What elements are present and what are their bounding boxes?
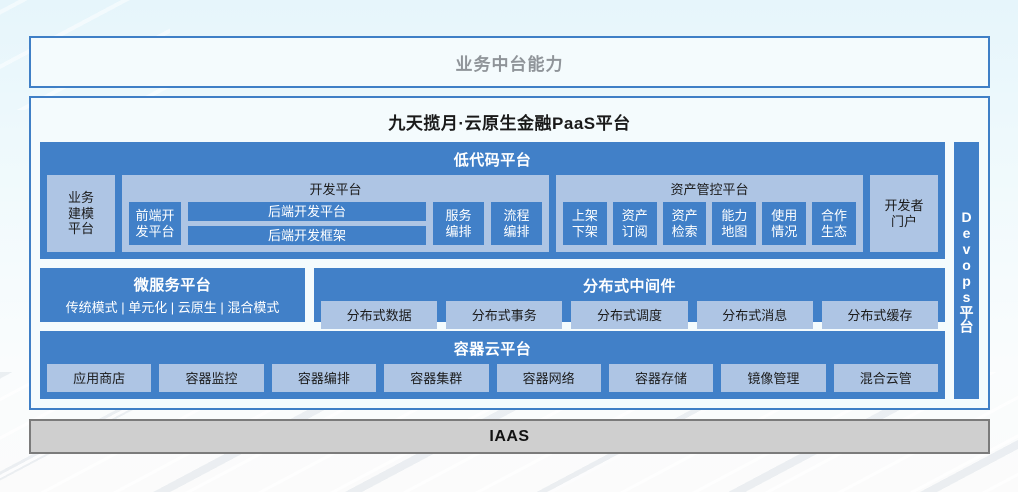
business-modeling-line-3: 平台 [68,221,94,237]
container-item-cluster[interactable]: 容器集群 [384,364,488,392]
process-orchestration-line-1: 流程 [503,208,529,224]
container-cloud-items: 应用商店 容器监控 容器编排 容器集群 容器网络 容器存储 镜像管理 混合云管 [47,364,938,392]
service-orchestration-line-2: 编排 [445,224,471,240]
container-item-storage[interactable]: 容器存储 [609,364,713,392]
asset-item-search-line-1: 资产 [672,208,698,224]
asset-item-capability-map-line-2: 地图 [721,224,747,240]
distributed-middleware-section: 分布式中间件 分布式数据 分布式事务 分布式调度 分布式消息 分布式缓存 [314,268,945,322]
container-item-app-store[interactable]: 应用商店 [47,364,151,392]
backend-dev-framework-box[interactable]: 后端开发框架 [188,226,426,245]
developer-portal-line-2: 门户 [884,214,923,230]
middleware-item-transaction[interactable]: 分布式事务 [446,301,562,329]
frontend-dev-line-2: 发平台 [135,224,174,240]
microservice-platform-subtitle: 传统模式 | 单元化 | 云原生 | 混合模式 [66,297,280,316]
process-orchestration-line-2: 编排 [503,224,529,240]
backend-dev-platform-box[interactable]: 后端开发平台 [188,202,426,221]
business-modeling-line-2: 建模 [68,206,94,222]
developer-portal-line-1: 开发者 [884,198,923,214]
lowcode-platform-row: 业务 建模 平台 开发平台 前端开 [47,175,938,252]
distributed-middleware-title: 分布式中间件 [321,273,938,301]
container-item-orchestration[interactable]: 容器编排 [272,364,376,392]
asset-management-platform-title: 资产管控平台 [563,178,856,202]
business-modeling-platform-box[interactable]: 业务 建模 平台 [47,175,115,252]
lowcode-platform-section: 低代码平台 业务 建模 平台 开发平台 [40,142,945,259]
asset-item-capability-map-line-1: 能力 [721,208,747,224]
asset-item-search[interactable]: 资产 检索 [663,202,707,245]
business-middle-platform-band: 业务中台能力 [29,36,990,88]
asset-item-listing-line-2: 下架 [572,224,598,240]
asset-item-listing[interactable]: 上架 下架 [563,202,607,245]
middleware-item-data[interactable]: 分布式数据 [321,301,437,329]
asset-item-subscription-line-2: 订阅 [622,224,648,240]
paas-platform-container: 九天揽月·云原生金融PaaS平台 低代码平台 业务 建模 平台 [29,96,990,410]
frontend-dev-platform-box[interactable]: 前端开 发平台 [129,202,181,245]
devops-platform-label: Devops平台 [957,209,977,333]
container-cloud-platform-title: 容器云平台 [47,336,938,364]
asset-item-search-line-2: 检索 [672,224,698,240]
container-item-hybrid-cloud[interactable]: 混合云管 [834,364,938,392]
developer-portal-box[interactable]: 开发者 门户 [870,175,938,252]
iaas-band: IAAS [29,419,990,454]
development-platform-items: 前端开 发平台 后端开发平台 后端开发框架 [129,202,542,245]
devops-platform-bar[interactable]: Devops平台 [954,142,979,399]
asset-management-platform-panel: 资产管控平台 上架 下架 资产 [556,175,863,252]
development-platform-panel: 开发平台 前端开 发平台 后端开发平台 [122,175,549,252]
middleware-item-scheduling[interactable]: 分布式调度 [571,301,687,329]
service-orchestration-box[interactable]: 服务 编排 [433,202,484,245]
middleware-item-message[interactable]: 分布式消息 [697,301,813,329]
container-item-monitoring[interactable]: 容器监控 [159,364,263,392]
microservice-platform-section[interactable]: 微服务平台 传统模式 | 单元化 | 云原生 | 混合模式 [40,268,305,322]
container-item-network[interactable]: 容器网络 [497,364,601,392]
architecture-diagram: 业务中台能力 九天揽月·云原生金融PaaS平台 低代码平台 业务 建模 平台 [29,36,990,454]
process-orchestration-box[interactable]: 流程 编排 [491,202,542,245]
service-orchestration-line-1: 服务 [445,208,471,224]
middle-layer-row: 微服务平台 传统模式 | 单元化 | 云原生 | 混合模式 分布式中间件 分布式… [40,268,945,322]
asset-item-usage[interactable]: 使用 情况 [762,202,806,245]
paas-layers-column: 低代码平台 业务 建模 平台 开发平台 [40,142,945,399]
asset-item-usage-line-2: 情况 [771,224,797,240]
business-middle-platform-label: 业务中台能力 [456,50,564,75]
asset-item-subscription-line-1: 资产 [622,208,648,224]
backend-dev-stack: 后端开发平台 后端开发框架 [188,202,426,245]
asset-item-partner-line-1: 合作 [821,208,847,224]
container-item-image-management[interactable]: 镜像管理 [721,364,825,392]
lowcode-platform-title: 低代码平台 [47,147,938,175]
microservice-platform-title: 微服务平台 [134,274,212,295]
frontend-dev-line-1: 前端开 [135,208,174,224]
container-cloud-platform-section: 容器云平台 应用商店 容器监控 容器编排 容器集群 容器网络 容器存储 镜像管理… [40,331,945,399]
asset-item-capability-map[interactable]: 能力 地图 [712,202,756,245]
development-platform-title: 开发平台 [129,178,542,202]
asset-management-items: 上架 下架 资产 订阅 [563,202,856,245]
business-modeling-line-1: 业务 [68,190,94,206]
paas-platform-title: 九天揽月·云原生金融PaaS平台 [40,105,979,142]
middleware-item-cache[interactable]: 分布式缓存 [822,301,938,329]
distributed-middleware-items: 分布式数据 分布式事务 分布式调度 分布式消息 分布式缓存 [321,301,938,329]
asset-item-partner-line-2: 生态 [821,224,847,240]
iaas-label: IAAS [489,428,529,446]
asset-item-subscription[interactable]: 资产 订阅 [613,202,657,245]
paas-platform-body: 低代码平台 业务 建模 平台 开发平台 [40,142,979,399]
asset-item-usage-line-1: 使用 [771,208,797,224]
asset-item-listing-line-1: 上架 [572,208,598,224]
asset-item-partner-ecosystem[interactable]: 合作 生态 [812,202,856,245]
